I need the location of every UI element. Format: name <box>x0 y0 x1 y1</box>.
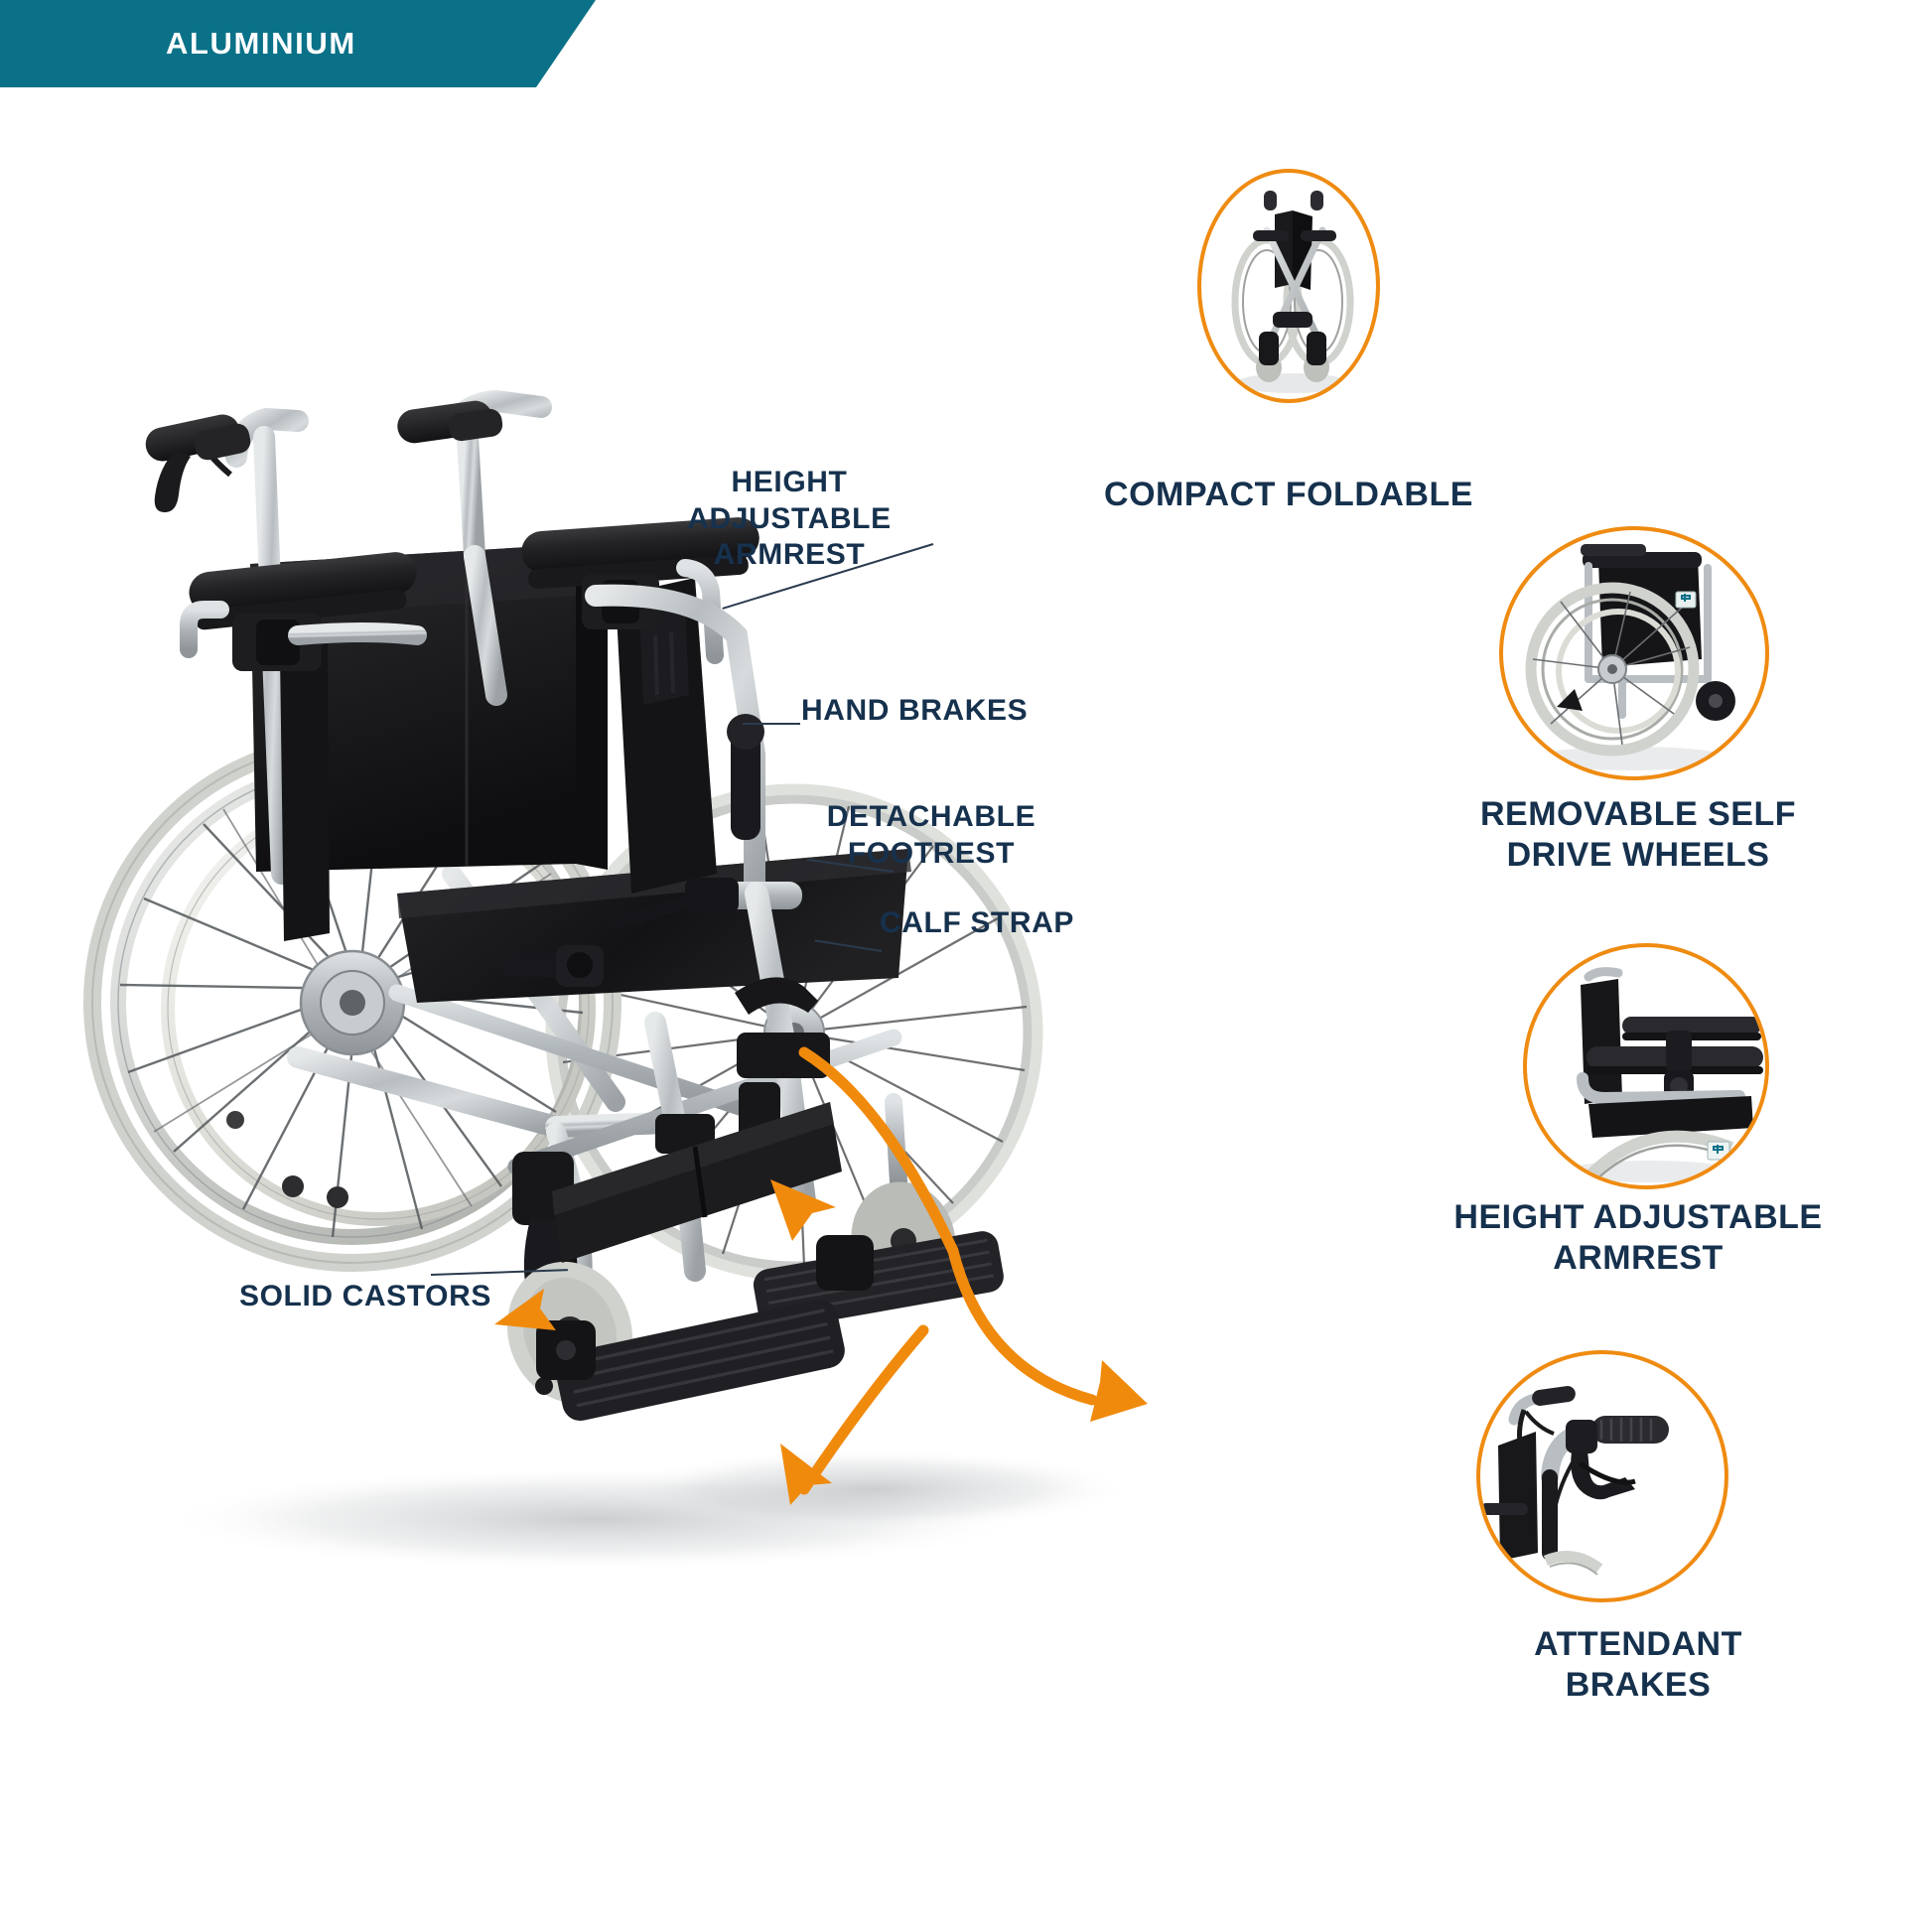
feature-circle-compact-foldable <box>1197 169 1380 403</box>
feature-caption-compact-foldable: COMPACT FOLDABLE <box>1048 475 1529 515</box>
feature-caption-attendant-brakes: ATTENDANT BRAKES <box>1420 1624 1857 1706</box>
feature-caption-removable-self-drive-wheels: REMOVABLE SELF DRIVE WHEELS <box>1390 794 1886 876</box>
infographic-canvas: ALUMINIUM <box>0 0 1932 1932</box>
callout-height-adjustable-armrest: HEIGHT ADJUSTABLE ARMREST <box>640 465 938 574</box>
callout-hand-brakes: HAND BRAKES <box>801 693 1129 730</box>
callout-solid-castors: SOLID CASTORS <box>239 1279 636 1315</box>
feature-circle-attendant-brakes <box>1476 1350 1728 1602</box>
callout-calf-strap: CALF STRAP <box>880 905 1177 942</box>
leader-line-hand-brakes <box>743 723 800 725</box>
leader-line-calf-strap <box>815 939 882 952</box>
feature-caption-height-adjustable-armrest: HEIGHT ADJUSTABLE ARMREST <box>1370 1197 1906 1279</box>
feature-circle-height-adjustable-armrest <box>1523 943 1769 1189</box>
banner-label: ALUMINIUM <box>166 26 356 62</box>
feature-circle-removable-self-drive-wheels <box>1499 526 1769 780</box>
callout-detachable-footrest: DETACHABLE FOOTREST <box>822 799 1040 872</box>
leader-line-solid-castors <box>431 1269 568 1276</box>
aluminium-banner: ALUMINIUM <box>0 0 596 87</box>
